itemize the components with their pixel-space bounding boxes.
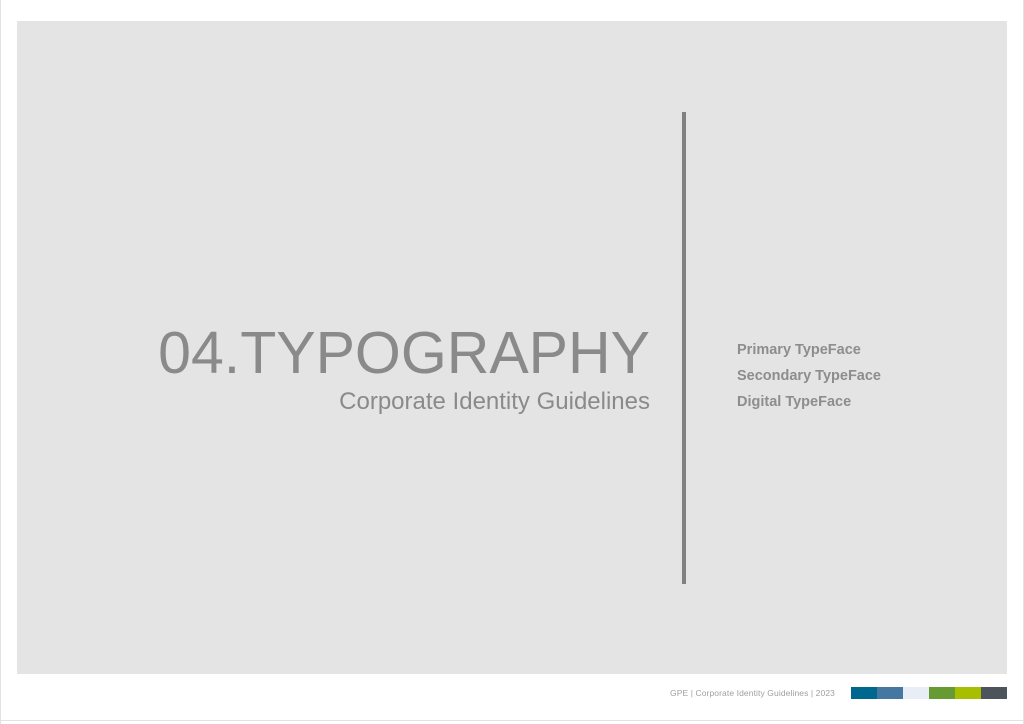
typeface-list-item-digital[interactable]: Digital TypeFace <box>737 389 881 415</box>
swatch-dark-slate <box>981 687 1007 699</box>
brand-color-swatch-strip <box>851 687 1007 699</box>
swatch-teal-blue <box>851 687 877 699</box>
typeface-list-item-primary[interactable]: Primary TypeFace <box>737 337 881 363</box>
footer-caption: GPE | Corporate Identity Guidelines | 20… <box>670 688 835 698</box>
frame-border-bottom <box>0 720 1024 721</box>
page-title: 04.TYPOGRAPHY <box>137 321 650 385</box>
vertical-divider <box>682 112 686 584</box>
typeface-list-item-secondary[interactable]: Secondary TypeFace <box>737 363 881 389</box>
footer: GPE | Corporate Identity Guidelines | 20… <box>17 686 1007 702</box>
content-panel: 04.TYPOGRAPHY Corporate Identity Guideli… <box>17 21 1007 674</box>
swatch-slate-blue <box>877 687 903 699</box>
page-subtitle: Corporate Identity Guidelines <box>137 387 650 417</box>
typeface-list: Primary TypeFace Secondary TypeFace Digi… <box>737 337 881 415</box>
slide-canvas: 04.TYPOGRAPHY Corporate Identity Guideli… <box>0 0 1024 724</box>
title-block: 04.TYPOGRAPHY Corporate Identity Guideli… <box>137 321 650 417</box>
frame-border-left <box>0 0 1 724</box>
swatch-pale-blue <box>903 687 929 699</box>
swatch-olive-green <box>929 687 955 699</box>
swatch-lime-green <box>955 687 981 699</box>
